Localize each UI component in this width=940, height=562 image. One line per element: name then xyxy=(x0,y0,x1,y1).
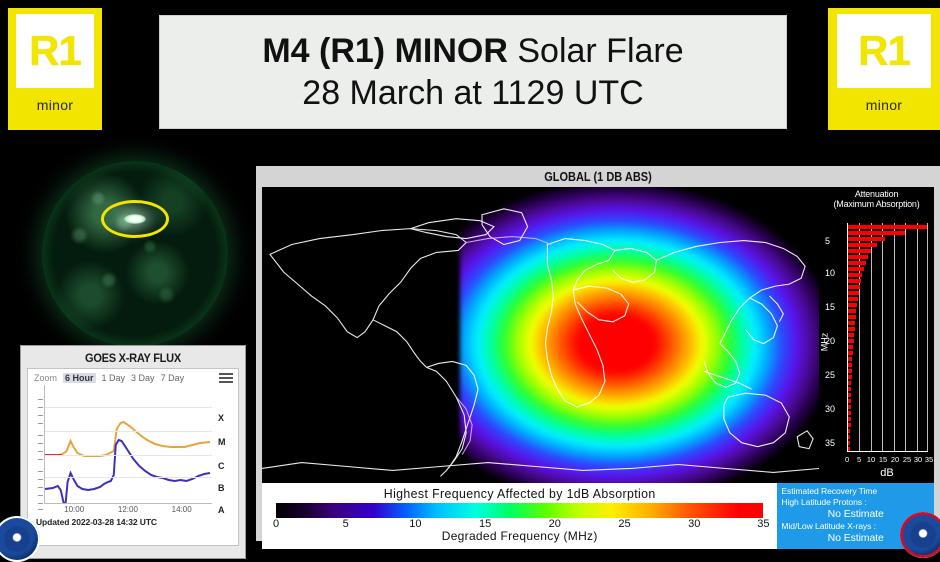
scale-badge-right: R1 minor xyxy=(828,8,940,130)
goes-class-b: B xyxy=(218,483,225,493)
drap-panel-title: GLOBAL (1 DB ABS) xyxy=(297,166,899,187)
goes-tick-1200: 12:00 xyxy=(118,505,138,514)
title-box: M4 (R1) MINOR Solar Flare 28 March at 11… xyxy=(160,16,786,128)
drap-map-and-attenuation: Attenuation (Maximum Absorption) MHz 5 1… xyxy=(262,187,934,483)
goes-zoom-label: Zoom xyxy=(34,373,57,383)
scale-badge-left-box: R1 xyxy=(16,14,95,88)
goes-zoom-6hour[interactable]: 6 Hour xyxy=(63,373,96,383)
attenuation-ytick-10: 10 xyxy=(825,268,835,278)
colorbar-title: Highest Frequency Affected by 1dB Absorp… xyxy=(275,483,765,503)
goes-flux-class-labels: X M C B A xyxy=(214,395,234,513)
colorbar-gradient xyxy=(276,503,763,518)
noaa-logo-right xyxy=(900,512,940,558)
attenuation-ytick-35: 35 xyxy=(825,438,835,448)
goes-class-x: X xyxy=(218,413,224,423)
colorbar-tick-20: 20 xyxy=(549,518,561,530)
scale-badge-right-level: R1 xyxy=(858,27,910,75)
sun-disk xyxy=(42,161,228,347)
title-event-label: Solar Flare xyxy=(508,32,684,70)
colorbar-tick-5: 5 xyxy=(343,518,349,530)
scale-badge-right-severity: minor xyxy=(866,97,903,113)
goes-flux-curves xyxy=(45,385,212,503)
scale-badge-right-box: R1 xyxy=(837,14,931,88)
colorbar-axis-label: Degraded Frequency (MHz) xyxy=(262,529,777,543)
hamburger-icon[interactable] xyxy=(219,373,233,383)
attenuation-xtick-0: 0 xyxy=(845,455,849,464)
recovery-title: Estimated Recovery Time xyxy=(781,486,930,497)
goes-zoom-3day[interactable]: 3 Day xyxy=(131,373,155,383)
attenuation-y-ticks: 5 10 15 20 25 30 35 xyxy=(823,223,847,451)
colorbar-tick-25: 25 xyxy=(618,518,630,530)
colorbar-ticks: 0 5 10 15 20 25 30 35 xyxy=(276,518,763,530)
attenuation-ytick-15: 15 xyxy=(825,302,835,312)
colorbar-tick-10: 10 xyxy=(409,518,421,530)
scale-badge-left: R1 minor xyxy=(8,8,102,130)
attenuation-ytick-30: 30 xyxy=(825,404,835,414)
attenuation-ytick-5: 5 xyxy=(825,236,830,246)
colorbar-tick-15: 15 xyxy=(479,518,491,530)
attenuation-title: Attenuation (Maximum Absorption) xyxy=(819,187,934,210)
goes-tick-1400: 14:00 xyxy=(172,505,192,514)
goes-class-m: M xyxy=(218,437,226,447)
colorbar-tick-0: 0 xyxy=(273,518,279,530)
title-class-label: M4 (R1) MINOR xyxy=(262,32,508,70)
solar-disk-image xyxy=(22,156,248,352)
goes-zoom-controls: Zoom 6 Hour 1 Day 3 Day 7 Day xyxy=(28,369,238,385)
noaa-seagull-icon xyxy=(4,526,30,552)
goes-updated-timestamp: Updated 2022-03-28 14:32 UTC xyxy=(28,516,238,527)
attenuation-x-axis-label: dB xyxy=(847,467,927,479)
goes-xray-flux-panel: GOES X-RAY FLUX Zoom 6 Hour 1 Day 3 Day … xyxy=(20,345,246,559)
goes-time-axis: 10:00 12:00 14:00 xyxy=(44,504,212,516)
title-line-1: M4 (R1) MINOR Solar Flare xyxy=(262,30,683,73)
goes-chart: Zoom 6 Hour 1 Day 3 Day 7 Day X M C B A xyxy=(27,368,239,546)
drap-world-map xyxy=(262,187,819,483)
goes-class-a: A xyxy=(218,505,225,515)
attenuation-title-line2: (Maximum Absorption) xyxy=(819,199,934,209)
goes-tick-1000: 10:00 xyxy=(64,505,84,514)
coastline-overlay xyxy=(262,187,819,480)
goes-zoom-7day[interactable]: 7 Day xyxy=(161,373,185,383)
attenuation-ytick-25: 25 xyxy=(825,370,835,380)
attenuation-xtick-25: 25 xyxy=(903,455,911,464)
drap-legend-row: Highest Frequency Affected by 1dB Absorp… xyxy=(262,483,934,549)
attenuation-xtick-15: 15 xyxy=(879,455,887,464)
noaa-seagull-icon-right xyxy=(910,522,936,548)
recovery-protons-label: High Latitude Protons : xyxy=(781,497,930,508)
attenuation-xtick-10: 10 xyxy=(867,455,875,464)
flare-highlight-ellipse xyxy=(101,200,169,238)
attenuation-title-line1: Attenuation xyxy=(819,189,934,199)
attenuation-xtick-5: 5 xyxy=(857,455,861,464)
colorbar-tick-30: 30 xyxy=(688,518,700,530)
goes-panel-title: GOES X-RAY FLUX xyxy=(30,346,236,368)
goes-class-c: C xyxy=(218,461,225,471)
attenuation-xtick-20: 20 xyxy=(891,455,899,464)
colorbar-tick-35: 35 xyxy=(757,518,769,530)
goes-short-wavelength-curve xyxy=(45,440,210,503)
goes-plot-area xyxy=(44,385,212,504)
alert-graphic: R1 minor M4 (R1) MINOR Solar Flare 28 Ma… xyxy=(0,0,940,562)
title-line-2: 28 March at 1129 UTC xyxy=(302,72,643,115)
goes-zoom-1day[interactable]: 1 Day xyxy=(102,373,126,383)
sun-texture xyxy=(42,161,228,347)
frequency-colorbar: Highest Frequency Affected by 1dB Absorp… xyxy=(262,483,777,549)
attenuation-ytick-20: 20 xyxy=(825,336,835,346)
scale-badge-left-severity: minor xyxy=(37,97,74,113)
attenuation-plot-area xyxy=(847,223,928,452)
scale-badge-left-level: R1 xyxy=(29,27,81,75)
drap-global-panel: GLOBAL (1 DB ABS) xyxy=(256,166,940,541)
attenuation-chart: Attenuation (Maximum Absorption) MHz 5 1… xyxy=(819,187,934,483)
attenuation-xtick-30: 30 xyxy=(914,455,922,464)
attenuation-xtick-35: 35 xyxy=(925,455,933,464)
